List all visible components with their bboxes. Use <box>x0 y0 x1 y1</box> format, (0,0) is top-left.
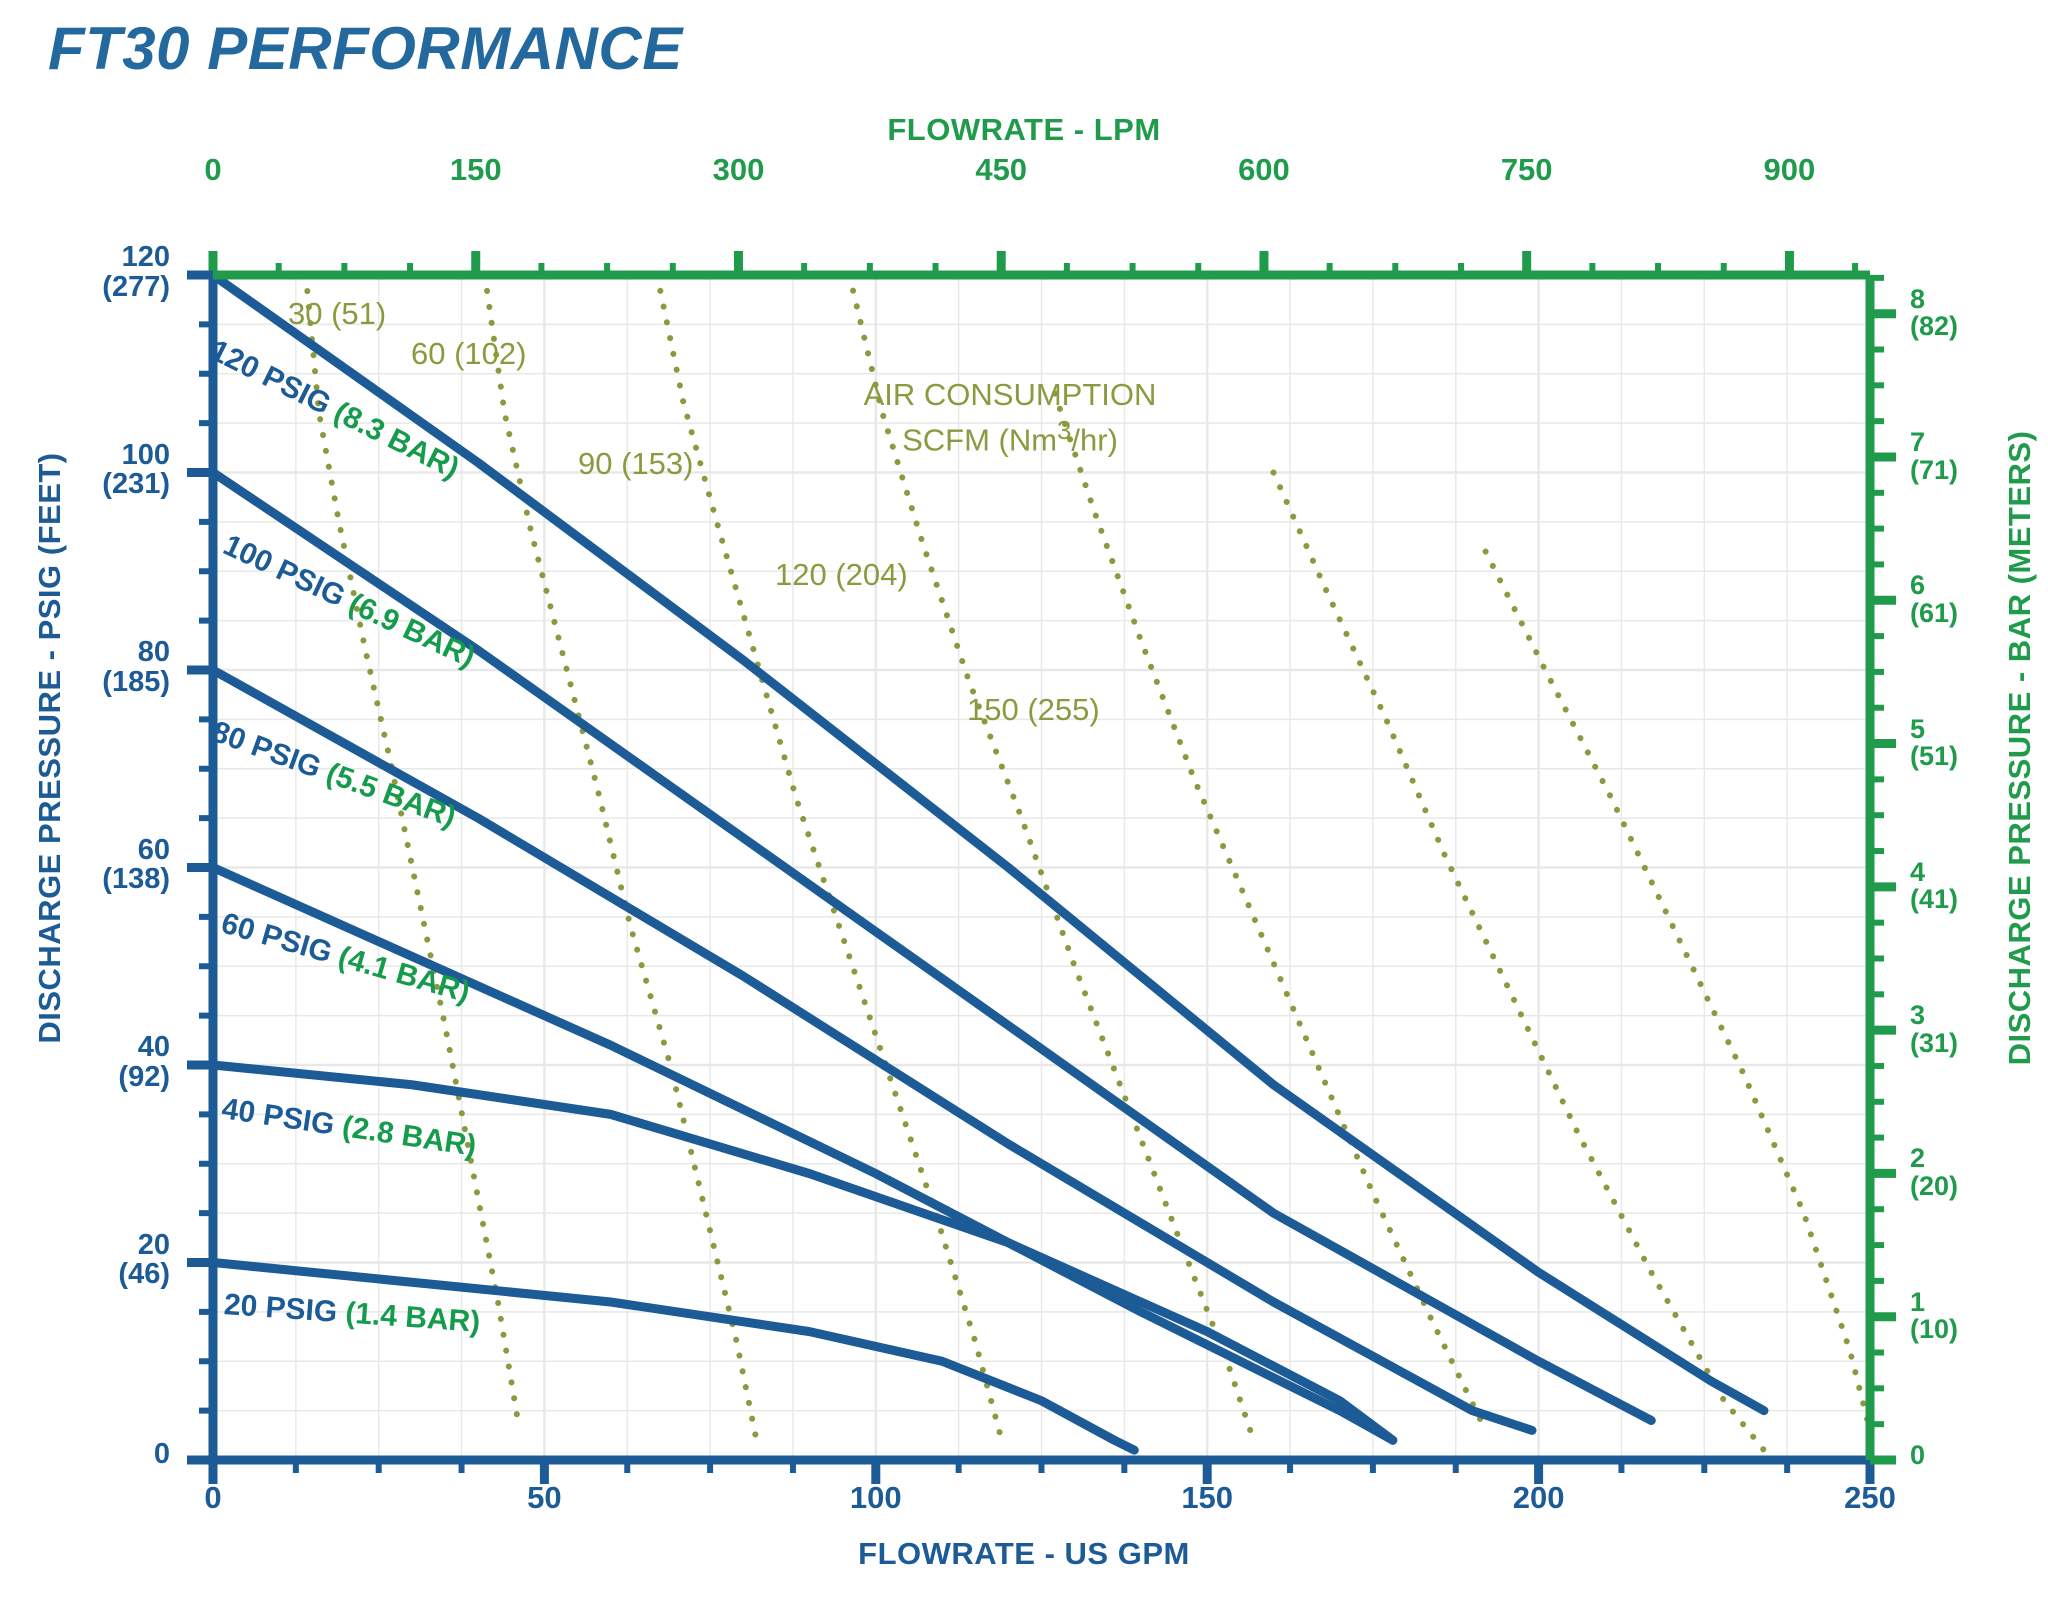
top-tick-label: 0 <box>143 152 283 188</box>
air-consumption-curve-label: 150 (255) <box>967 692 1100 728</box>
top-tick-label: 300 <box>668 152 808 188</box>
left-tick-label: 20(46) <box>20 1231 170 1290</box>
bottom-tick-label: 100 <box>806 1480 946 1516</box>
right-tick-label: 0 <box>1910 1442 2048 1470</box>
left-tick-label: 100(231) <box>20 441 170 500</box>
right-tick-label: 3(31) <box>1910 1002 2048 1057</box>
curve-label-psig: 20 PSIG <box>223 1288 338 1329</box>
bottom-tick-label: 200 <box>1469 1480 1609 1516</box>
right-tick-label: 4(41) <box>1910 859 2048 914</box>
air-consumption-curve-label: 60 (102) <box>411 336 526 372</box>
top-tick-label: 150 <box>406 152 546 188</box>
bottom-tick-label: 50 <box>474 1480 614 1516</box>
right-tick-label: 8(82) <box>1910 286 2048 341</box>
top-tick-label: 750 <box>1457 152 1597 188</box>
top-tick-label: 900 <box>1719 152 1859 188</box>
air-consumption-curve-label: 30 (51) <box>288 296 386 332</box>
right-tick-label: 6(61) <box>1910 572 2048 627</box>
air-consumption-note: AIR CONSUMPTIONSCFM (Nm3/hr) <box>790 375 1230 460</box>
top-axis-title: FLOWRATE - LPM <box>0 112 2048 148</box>
right-tick-label: 1(10) <box>1910 1289 2048 1344</box>
right-tick-label: 5(51) <box>1910 716 2048 771</box>
bottom-axis-title: FLOWRATE - US GPM <box>0 1536 2048 1572</box>
left-tick-label: 40(92) <box>20 1033 170 1092</box>
air-consumption-curve-label: 90 (153) <box>578 446 693 482</box>
left-tick-label: 120(277) <box>20 243 170 302</box>
bottom-tick-label: 0 <box>143 1480 283 1516</box>
left-tick-label: 60(138) <box>20 836 170 895</box>
right-tick-label: 2(20) <box>1910 1145 2048 1200</box>
left-tick-label: 80(185) <box>20 638 170 697</box>
top-tick-label: 600 <box>1194 152 1334 188</box>
right-tick-label: 7(71) <box>1910 429 2048 484</box>
performance-chart <box>0 0 2048 1616</box>
left-tick-label: 0 <box>20 1440 170 1470</box>
bottom-tick-label: 150 <box>1137 1480 1277 1516</box>
top-tick-label: 450 <box>931 152 1071 188</box>
bottom-tick-label: 250 <box>1800 1480 1940 1516</box>
air-consumption-curve-label: 120 (204) <box>775 557 908 593</box>
